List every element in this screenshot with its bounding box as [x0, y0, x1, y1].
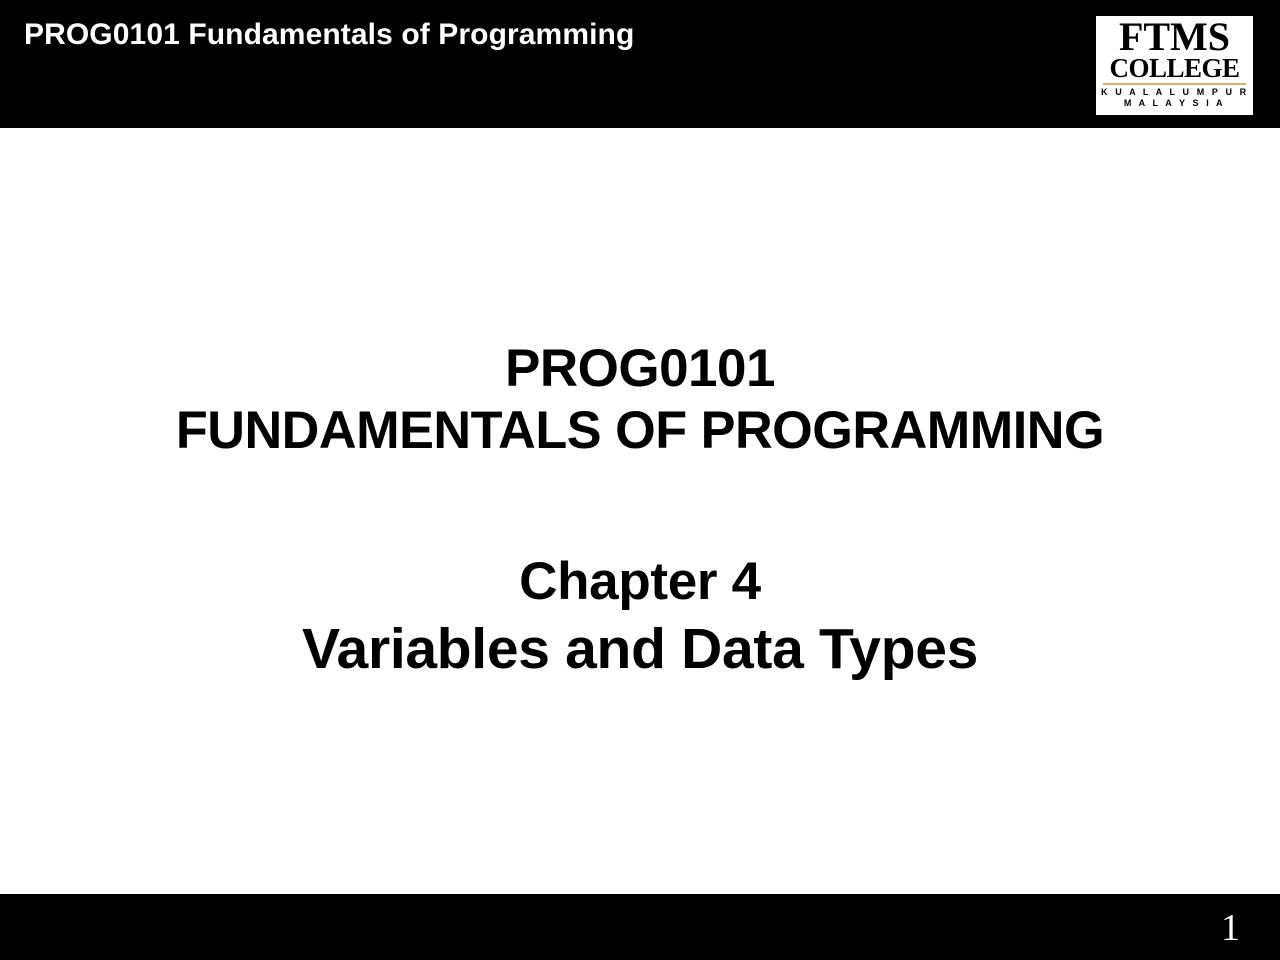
- presentation-slide: PROG0101 Fundamentals of Programming FTM…: [0, 0, 1280, 960]
- logo-wordmark-college: COLLEGE: [1101, 55, 1248, 81]
- slide-body: PROG0101 FUNDAMENTALS OF PROGRAMMING Cha…: [0, 128, 1280, 894]
- course-name-line: FUNDAMENTALS OF PROGRAMMING: [10, 400, 1271, 462]
- slide-header-bar: PROG0101 Fundamentals of Programming FTM…: [0, 0, 1280, 128]
- logo-divider-rule: [1103, 83, 1246, 85]
- logo-wordmark-ftms: FTMS: [1101, 18, 1248, 56]
- title-block-spacer: [0, 462, 1280, 550]
- chapter-title-line: Variables and Data Types: [0, 614, 1280, 684]
- page-number: 1: [1221, 908, 1240, 948]
- course-header-title: PROG0101 Fundamentals of Programming: [24, 18, 634, 52]
- course-code-line: PROG0101: [0, 338, 1280, 400]
- logo-country-label: M A L A Y S I A: [1101, 98, 1248, 109]
- slide-footer-bar: 1: [0, 894, 1280, 960]
- chapter-number-line: Chapter 4: [0, 550, 1280, 614]
- logo-city-label: K U A L A L U M P U R: [1101, 87, 1248, 98]
- title-block: PROG0101 FUNDAMENTALS OF PROGRAMMING Cha…: [0, 338, 1280, 684]
- ftms-college-logo: FTMS COLLEGE K U A L A L U M P U R M A L…: [1096, 16, 1253, 115]
